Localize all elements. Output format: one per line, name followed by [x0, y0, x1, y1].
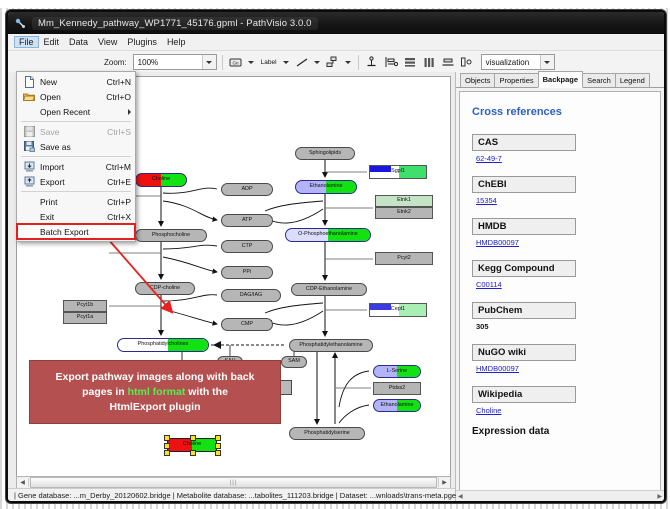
resize-handle-se[interactable] — [215, 450, 221, 456]
node-label: O-Phosphoethanolamine — [298, 232, 358, 237]
import-icon — [21, 160, 37, 173]
xref-value[interactable]: Choline — [476, 406, 648, 415]
node-label: DAG/IAG — [240, 293, 262, 298]
menu-item-accel: Ctrl+O — [100, 92, 131, 102]
chevron-down-icon-2[interactable] — [540, 55, 554, 69]
node-label: SAM — [288, 359, 300, 364]
align-columns-icon[interactable] — [421, 54, 437, 70]
xref-label: Kegg Compound — [472, 260, 576, 277]
callout-highlight: html format — [128, 386, 186, 398]
node-cept1[interactable]: Cept1 — [369, 303, 427, 317]
tab-objects[interactable]: Objects — [460, 73, 495, 87]
menu-separator — [21, 121, 131, 122]
chevron-down-icon[interactable] — [202, 55, 216, 69]
xref-label: CAS — [472, 134, 576, 151]
tab-properties[interactable]: Properties — [494, 73, 538, 87]
scroll-right-icon[interactable]: ▶ — [655, 493, 664, 500]
node-sphingolipids[interactable]: Sphingolipids — [295, 147, 355, 160]
menu-item-label: Exit — [37, 212, 101, 222]
menu-separator-2 — [21, 156, 131, 157]
scroll-right-icon[interactable]: ▶ — [438, 478, 450, 487]
menu-item-label: New — [37, 77, 101, 87]
pathvisio-window: Mm_Kennedy_pathway_WP1771_45176.gpml - P… — [6, 10, 666, 503]
callout-line2-part-a: pages in — [82, 386, 128, 398]
node-l-serine[interactable]: L-Serine — [373, 365, 421, 378]
xref-value[interactable]: 15354 — [476, 196, 648, 205]
node-label: Pcyt1b — [77, 303, 93, 308]
node-label: ADP — [241, 187, 252, 192]
menu-item-save: Save Ctrl+S — [17, 124, 135, 139]
node-pcyt1a[interactable]: Pcyt1a — [63, 312, 107, 324]
blank-icon-4 — [21, 225, 37, 238]
menu-view[interactable]: View — [93, 36, 122, 48]
tab-legend[interactable]: Legend — [615, 73, 650, 87]
scroll-left-icon[interactable]: ◀ — [17, 478, 29, 487]
export-icon — [21, 175, 37, 188]
menu-item-accel: Ctrl+M — [100, 162, 131, 172]
annotation-callout: Export pathway images along with back pa… — [29, 360, 281, 424]
stack-icon[interactable] — [440, 54, 456, 70]
selected-node-choline[interactable]: Choline — [167, 438, 217, 452]
window-title: Mm_Kennedy_pathway_WP1771_45176.gpml - P… — [32, 17, 318, 30]
resize-handle-s[interactable] — [190, 450, 196, 456]
status-bar: | Gene database: ...m_Derby_20120602.bri… — [8, 488, 455, 501]
xref-chebi: ChEBI 15354 — [472, 174, 648, 205]
node-label: Sgpl1 — [391, 169, 405, 174]
save-disk-icon — [21, 125, 37, 138]
node-pcyt1b[interactable]: Pcyt1b — [63, 300, 107, 312]
node-pcyt2[interactable]: Pcyt2 — [375, 252, 433, 265]
toolbar-separator — [222, 55, 223, 70]
node-cdp-ethanolamine[interactable]: CDP-Ethanolamine — [291, 283, 367, 296]
scrollbar-thumb[interactable]: ||| — [30, 477, 437, 488]
xref-hmdb: HMDB HMDB00097 — [472, 216, 648, 247]
node-phosphocholine[interactable]: Phosphocholine — [135, 229, 207, 242]
new-file-icon — [21, 75, 37, 88]
resize-handle-nw[interactable] — [164, 435, 170, 441]
node-label: L-Serine — [387, 369, 407, 374]
menu-item-label: Save — [37, 127, 101, 137]
resize-handle-e[interactable] — [215, 443, 221, 449]
menu-item-label: Open Recent — [37, 107, 128, 117]
node-dag-iag[interactable]: DAG/IAG — [221, 289, 281, 302]
menu-item-accel: Ctrl+X — [101, 212, 131, 222]
resize-handle-ne[interactable] — [215, 435, 221, 441]
zoom-value: 100% — [138, 58, 202, 67]
zoom-combobox[interactable]: 100% — [133, 54, 217, 70]
menu-item-label: Print — [37, 197, 101, 207]
node-label: Sphingolipids — [309, 151, 341, 156]
node-ctp[interactable]: CTP — [221, 240, 273, 253]
node-sgpl1[interactable]: Sgpl1 — [369, 165, 427, 179]
menu-item-accel: Ctrl+P — [101, 197, 131, 207]
callout-line-2: pages in html format with the — [82, 385, 228, 400]
xref-link[interactable]: Choline — [476, 406, 501, 415]
toolbar-separator-2 — [358, 55, 359, 70]
node-label: Ptdss2 — [389, 386, 405, 391]
interaction-dropdown-icon[interactable] — [344, 54, 353, 70]
node-cmp[interactable]: CMP — [221, 318, 273, 331]
xref-label: NuGO wiki — [472, 344, 576, 361]
node-etnk2[interactable]: Etnk2 — [375, 207, 433, 219]
visualization-value: visualization — [486, 58, 540, 67]
menu-item-print[interactable]: Print Ctrl+P — [17, 194, 135, 209]
status-text: | Gene database: ...m_Derby_20120602.bri… — [14, 491, 460, 500]
node-label: Phosphatidylserine — [304, 431, 350, 436]
node-ptdss2[interactable]: Ptdss2 — [373, 382, 421, 395]
blank-icon-3 — [21, 210, 37, 223]
menu-item-accel: Ctrl+S — [101, 127, 131, 137]
expression-data-heading: Expression data — [472, 426, 648, 437]
resize-handle-sw[interactable] — [164, 450, 170, 456]
menu-item-label: Export — [37, 177, 101, 187]
node-label: CMP — [241, 322, 253, 327]
node-atp[interactable]: ATP — [221, 214, 273, 227]
menu-data[interactable]: Data — [64, 36, 93, 48]
node-label: PPi — [243, 270, 251, 275]
xref-kegg-compound: Kegg Compound C00114 — [472, 258, 648, 289]
menu-item-label: Open — [37, 92, 100, 102]
menu-item-open[interactable]: Open Ctrl+O — [17, 89, 135, 104]
xref-cas: CAS 62-49-7 — [472, 132, 648, 163]
visualization-icon[interactable] — [459, 54, 475, 70]
node-ethanolamine-2[interactable]: Ethanolamine — [373, 399, 421, 412]
menu-item-accel: Ctrl+E — [101, 177, 131, 187]
line-icon[interactable] — [294, 54, 310, 70]
xref-value[interactable]: HMDB00097 — [476, 364, 648, 373]
menu-item-save-as[interactable]: Save as — [17, 139, 135, 154]
side-panel-tabs[interactable]: Objects Properties Backpage Search Legen… — [456, 72, 664, 88]
xref-link[interactable]: 62-49-7 — [476, 154, 502, 163]
node-cdp-choline[interactable]: CDP-choline — [135, 282, 195, 295]
node-phosphatidylserine[interactable]: Phosphatidylserine — [289, 427, 365, 440]
line-dropdown-icon[interactable] — [313, 54, 322, 70]
side-panel: Objects Properties Backpage Search Legen… — [456, 72, 664, 501]
xref-value[interactable]: C00114 — [476, 280, 648, 289]
title-bar: Mm_Kennedy_pathway_WP1771_45176.gpml - P… — [8, 12, 664, 34]
screenshot-root: Mm_Kennedy_pathway_WP1771_45176.gpml - P… — [0, 0, 670, 509]
align-rows-icon[interactable] — [402, 54, 418, 70]
xref-label: HMDB — [472, 218, 576, 235]
node-label: Ethanolamine — [381, 403, 414, 408]
xref-wikipedia: Wikipedia Choline — [472, 384, 648, 415]
menu-edit[interactable]: Edit — [39, 36, 65, 48]
menu-item-open-recent[interactable]: Open Recent — [17, 104, 135, 119]
xref-link[interactable]: 15354 — [476, 196, 497, 205]
node-adp[interactable]: ADP — [221, 183, 273, 196]
file-menu-dropdown[interactable]: New Ctrl+N Open Ctrl+O Open Recent — [16, 71, 136, 242]
node-choline[interactable]: Choline — [135, 173, 187, 187]
node-sam[interactable]: SAM — [281, 356, 307, 368]
pathvisio-app-icon — [14, 17, 26, 29]
cept1-blue-quadrant — [370, 304, 391, 310]
node-ppi[interactable]: PPi — [221, 266, 273, 279]
open-folder-icon — [21, 90, 37, 103]
svg-text:Gn: Gn — [233, 60, 240, 65]
thumb-grip-icon: ||| — [230, 480, 238, 486]
xref-label: ChEBI — [472, 176, 576, 193]
node-phosphatidylcholines[interactable]: Phosphatidylcholines — [117, 338, 209, 352]
node-label: CTP — [242, 244, 253, 249]
anchor-icon[interactable] — [364, 54, 380, 70]
interaction-icon[interactable] — [325, 54, 341, 70]
node-label: Cept1 — [391, 307, 405, 312]
node-label: Choline — [152, 177, 170, 182]
node-label: Ethanolamine — [310, 184, 343, 189]
menu-file[interactable]: File — [14, 36, 39, 48]
node-label: Phosphocholine — [152, 233, 190, 238]
node-label: Pcyt2 — [397, 256, 410, 261]
node-phosphatidylethanolamine[interactable]: Phosphatidylethanolamine — [289, 339, 373, 352]
blank-icon-2 — [21, 195, 37, 208]
zoom-label: Zoom: — [104, 58, 127, 67]
node-label: CDP-Ethanolamine — [306, 287, 352, 292]
callout-line2-part-b: with the — [185, 386, 228, 398]
callout-line-1: Export pathway images along with back — [56, 370, 255, 385]
menu-item-batch-export[interactable]: Batch Export — [17, 224, 135, 239]
menu-item-label: Save as — [37, 142, 125, 152]
label-dropdown-icon[interactable] — [282, 54, 291, 70]
menu-item-new[interactable]: New Ctrl+N — [17, 74, 135, 89]
node-etnk1[interactable]: Etnk1 — [375, 195, 433, 207]
menu-item-label: Batch Export — [37, 227, 131, 237]
node-ethanolamine[interactable]: Ethanolamine — [295, 180, 357, 194]
menu-item-import[interactable]: Import Ctrl+M — [17, 159, 135, 174]
save-as-icon — [21, 140, 37, 153]
tab-backpage[interactable]: Backpage — [538, 71, 583, 88]
blank-icon — [21, 105, 37, 118]
xref-nugo-wiki: NuGO wiki HMDB00097 — [472, 342, 648, 373]
sgpl1-blue-quadrant — [370, 166, 391, 172]
xref-label: Wikipedia — [472, 386, 576, 403]
node-label: Etnk2 — [397, 210, 411, 215]
xref-pubchem: PubChem 305 — [472, 300, 648, 331]
menu-separator-3 — [21, 191, 131, 192]
menu-bar[interactable]: File Edit Data View Plugins Help — [8, 34, 664, 51]
align-left-icon[interactable] — [383, 54, 399, 70]
node-label: Phosphatidylcholines — [138, 342, 189, 347]
cross-references-heading: Cross references — [472, 106, 648, 118]
xref-link[interactable]: C00114 — [476, 280, 502, 289]
xref-value[interactable]: HMDB00097 — [476, 238, 648, 247]
callout-line-3: HtmlExport plugin — [110, 400, 201, 415]
visualization-combobox[interactable]: visualization — [481, 54, 555, 70]
node-label: CDP-choline — [150, 286, 180, 291]
node-label: Phosphatidylethanolamine — [299, 343, 362, 348]
scroll-left-icon[interactable]: ◀ — [456, 493, 465, 500]
xref-value: 305 — [476, 322, 648, 331]
datanode-dropdown-icon[interactable] — [247, 54, 256, 70]
xref-link[interactable]: HMDB00097 — [476, 238, 519, 247]
node-label: Etnk1 — [397, 198, 411, 203]
backpage-content: Cross references CAS 62-49-7 ChEBI 15354… — [459, 91, 661, 498]
xref-label: PubChem — [472, 302, 576, 319]
node-label: ATP — [242, 218, 252, 223]
menu-item-accel: Ctrl+N — [101, 77, 131, 87]
submenu-arrow-icon — [128, 109, 131, 115]
resize-handle-n[interactable] — [190, 435, 196, 441]
menu-item-exit[interactable]: Exit Ctrl+X — [17, 209, 135, 224]
side-panel-horizontal-scrollbar[interactable]: ◀ ▶ — [456, 490, 664, 501]
menu-item-label: Import — [37, 162, 100, 172]
xref-link[interactable]: HMDB00097 — [476, 364, 519, 373]
tab-search[interactable]: Search — [582, 73, 616, 87]
label-button[interactable]: Label — [259, 54, 279, 70]
menu-help[interactable]: Help — [162, 36, 191, 48]
menu-item-export[interactable]: Export Ctrl+E — [17, 174, 135, 189]
datanode-icon[interactable]: Gn — [228, 54, 244, 70]
node-label: Pcyt1a — [77, 315, 93, 320]
node-o-phosphoethanolamine[interactable]: O-Phosphoethanolamine — [285, 228, 371, 242]
node-label: Choline — [183, 442, 201, 447]
menu-plugins[interactable]: Plugins — [122, 36, 162, 48]
xref-value[interactable]: 62-49-7 — [476, 154, 648, 163]
resize-handle-w[interactable] — [164, 443, 170, 449]
